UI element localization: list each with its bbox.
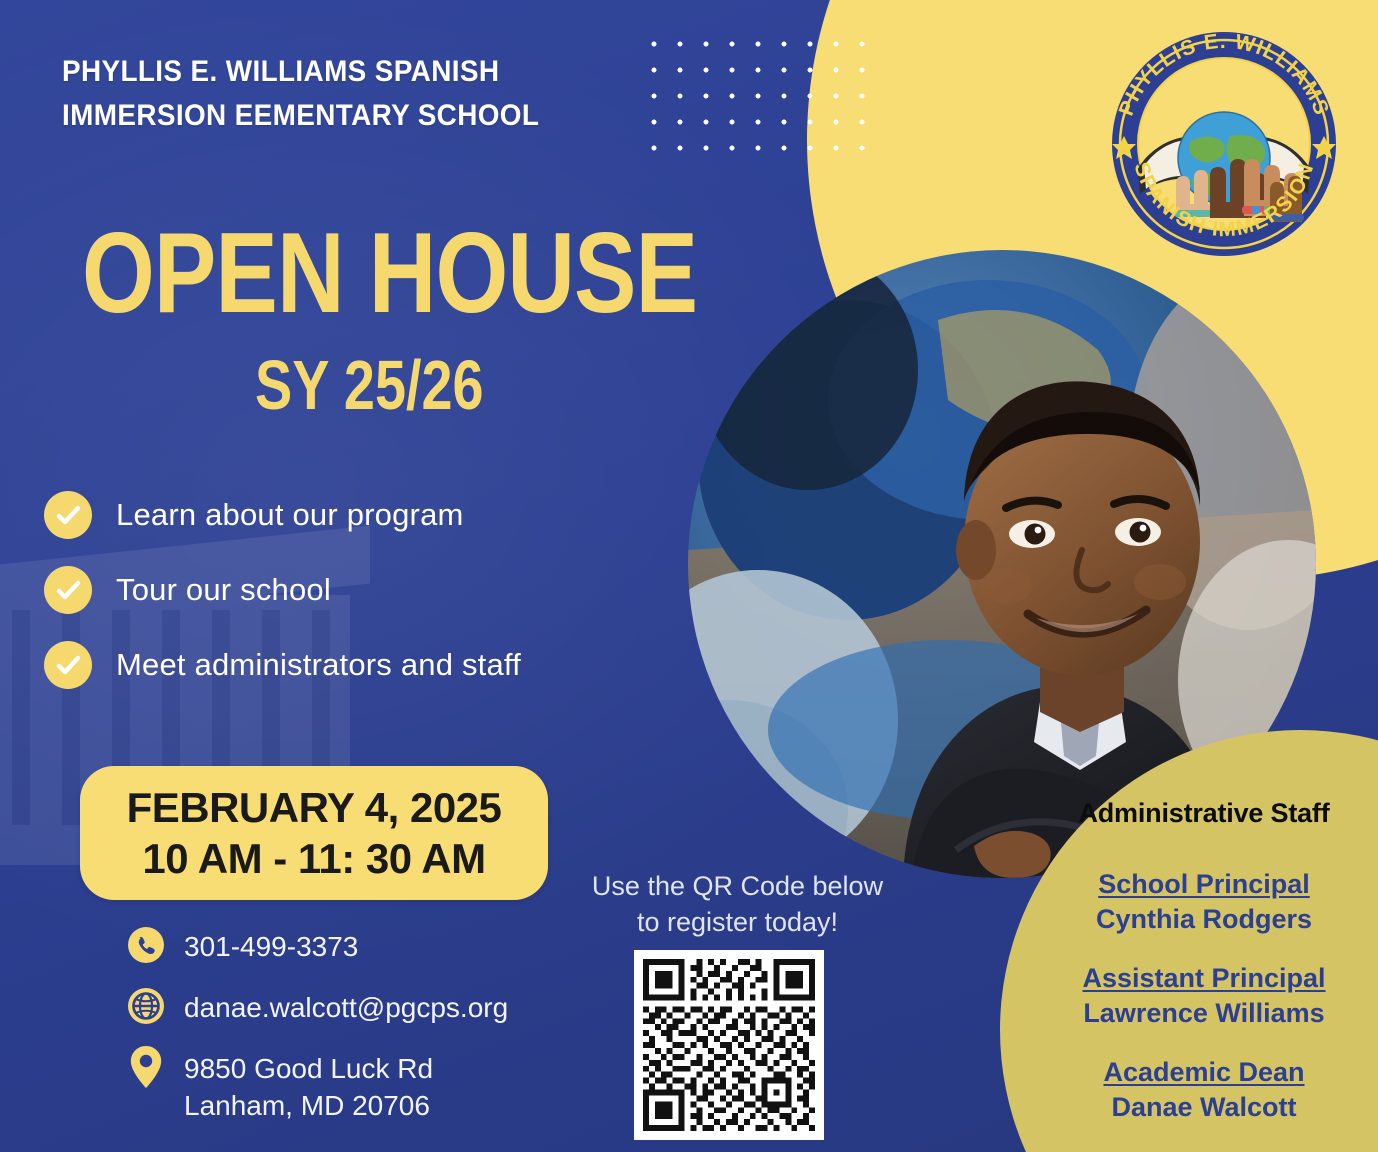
address-line-2: Lanham, MD 20706 xyxy=(184,1090,430,1121)
staff-name: Cynthia Rodgers xyxy=(1030,902,1378,937)
feature-list: Learn about our program Tour our school … xyxy=(44,490,684,715)
qr-caption-line-2: to register today! xyxy=(565,904,910,940)
staff-entry: Assistant Principal Lawrence Williams xyxy=(1030,961,1378,1031)
staff-name: Danae Walcott xyxy=(1030,1090,1378,1125)
globe-icon xyxy=(126,986,166,1026)
contact-email[interactable]: danae.walcott@pgcps.org xyxy=(126,986,596,1027)
contact-info-list: 301-499-3373 danae.walcott@pgcps.org xyxy=(126,925,596,1145)
address-line-1: 9850 Good Luck Rd xyxy=(184,1053,433,1084)
list-item-label: Meet administrators and staff xyxy=(116,647,521,683)
qr-caption: Use the QR Code below to register today! xyxy=(565,868,910,940)
open-house-flyer: PHYLLIS E. WILLIAMS SPANISH IMMERSION PH… xyxy=(0,0,1378,1152)
list-item: Tour our school xyxy=(44,565,684,615)
contact-address: 9850 Good Luck Rd Lanham, MD 20706 xyxy=(126,1047,596,1126)
phone-number: 301-499-3373 xyxy=(184,925,358,966)
list-item-label: Learn about our program xyxy=(116,497,464,533)
page-subtitle: SY 25/26 xyxy=(255,352,484,421)
list-item-label: Tour our school xyxy=(116,572,331,608)
check-circle-icon xyxy=(44,566,92,614)
event-datetime-badge: FEBRUARY 4, 2025 10 AM - 11: 30 AM xyxy=(80,766,548,900)
check-circle-icon xyxy=(44,491,92,539)
staff-title: Academic Dean xyxy=(1030,1055,1378,1090)
email-address: danae.walcott@pgcps.org xyxy=(184,986,508,1027)
staff-name: Lawrence Williams xyxy=(1030,996,1378,1031)
check-circle-icon xyxy=(44,641,92,689)
phone-icon xyxy=(126,925,166,965)
qr-code[interactable] xyxy=(634,950,824,1140)
school-name-line-1: PHYLLIS E. WILLIAMS SPANISH xyxy=(62,50,564,94)
admin-staff-content: Administrative Staff School Principal Cy… xyxy=(1030,798,1378,1150)
qr-caption-line-1: Use the QR Code below xyxy=(565,868,910,904)
staff-title: School Principal xyxy=(1030,867,1378,902)
event-time: 10 AM - 11: 30 AM xyxy=(142,833,485,884)
contact-phone[interactable]: 301-499-3373 xyxy=(126,925,596,966)
school-logo-seal: PHYLLIS E. WILLIAMS SPANISH IMMERSION xyxy=(1098,18,1350,270)
location-pin-icon xyxy=(126,1047,166,1087)
list-item: Learn about our program xyxy=(44,490,684,540)
page-title: OPEN HOUSE xyxy=(82,222,697,327)
staff-entry: School Principal Cynthia Rodgers xyxy=(1030,867,1378,937)
decorative-dot-grid xyxy=(641,31,885,171)
staff-entry: Academic Dean Danae Walcott xyxy=(1030,1055,1378,1125)
admin-staff-heading: Administrative Staff xyxy=(1030,798,1378,829)
school-name-heading: PHYLLIS E. WILLIAMS SPANISH IMMERSION EE… xyxy=(62,50,564,137)
school-name-line-2: IMMERSION EEMENTARY SCHOOL xyxy=(62,94,564,138)
list-item: Meet administrators and staff xyxy=(44,640,684,690)
staff-title: Assistant Principal xyxy=(1030,961,1378,996)
address-text: 9850 Good Luck Rd Lanham, MD 20706 xyxy=(184,1047,433,1126)
event-date: FEBRUARY 4, 2025 xyxy=(127,782,502,833)
